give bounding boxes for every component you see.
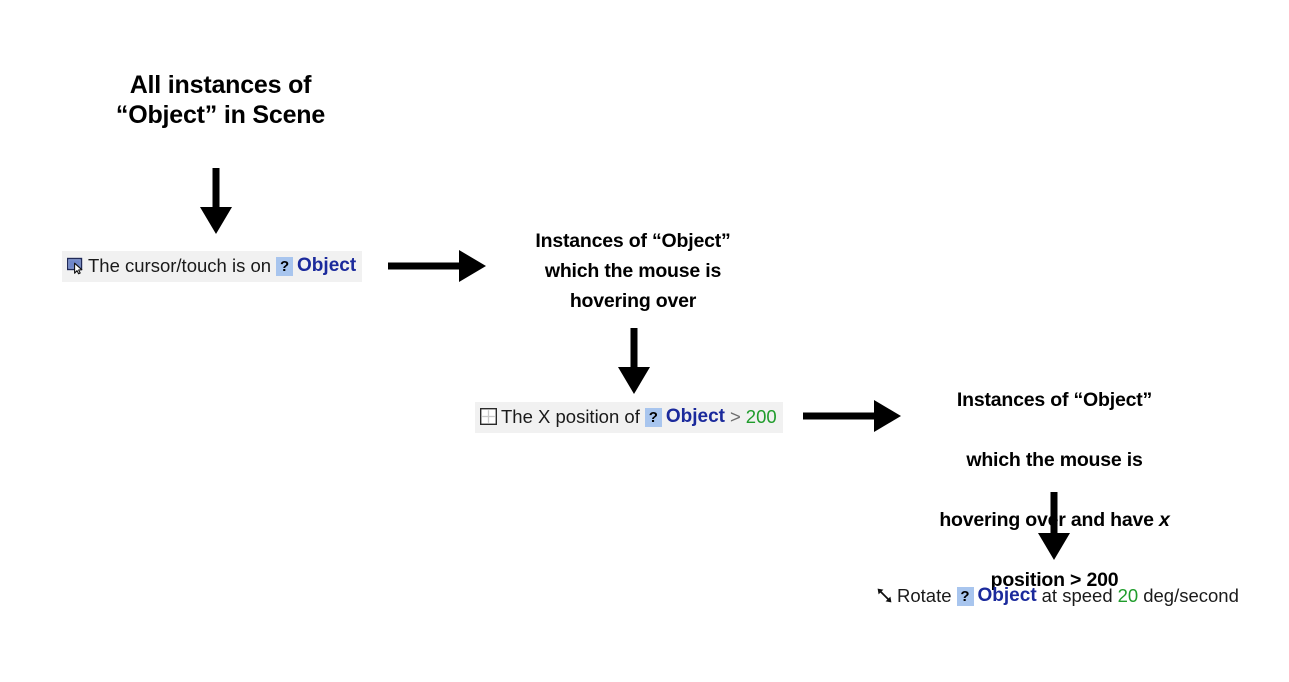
object-question-badge: ? <box>276 257 293 276</box>
arrow-head <box>618 367 650 394</box>
arrow-source-to-cursor-condition <box>200 168 232 234</box>
object-name-label: Object <box>978 585 1037 607</box>
speed-value[interactable]: 20 <box>1118 585 1139 607</box>
caption-italic-x: x <box>1159 509 1170 531</box>
object-parameter-chip[interactable]: ? Object <box>645 406 725 428</box>
arrow-x-condition-to-caption <box>803 402 901 430</box>
arrow-caption-to-rotate-action <box>1038 492 1070 560</box>
object-name-label: Object <box>666 406 725 428</box>
arrow-head <box>874 400 901 432</box>
arrow-shaft <box>388 263 460 270</box>
block-row-action-rotate[interactable]: Rotate ? Object at speed 20 deg/second <box>871 581 1245 612</box>
object-question-badge: ? <box>645 408 662 427</box>
row-text-after: at speed <box>1042 585 1113 607</box>
arrow-shaft <box>213 168 220 210</box>
row-text-before: The X position of <box>501 406 640 428</box>
rotate-diagonal-icon <box>876 587 894 605</box>
arrow-caption-to-x-condition <box>618 328 650 394</box>
object-question-badge: ? <box>957 587 974 606</box>
caption-source-instances: All instances of “Object” in Scene <box>48 70 393 130</box>
position-grid-icon <box>480 408 498 426</box>
block-row-condition-x-position[interactable]: The X position of ? Object > 200 <box>475 402 783 433</box>
arrow-shaft <box>631 328 638 370</box>
diagram-canvas: All instances of “Object” in Scene The c… <box>0 0 1289 682</box>
caption-line-2: which the mouse is <box>966 449 1142 471</box>
cursor-on-object-icon <box>67 257 85 275</box>
row-text-before: The cursor/touch is on <box>88 255 271 277</box>
object-name-label: Object <box>297 255 356 277</box>
caption-hovered-instances: Instances of “Object” which the mouse is… <box>505 226 761 316</box>
row-text-before: Rotate <box>897 585 952 607</box>
block-row-condition-cursor-on-object[interactable]: The cursor/touch is on ? Object <box>62 251 362 282</box>
arrow-shaft <box>1051 492 1058 536</box>
arrow-head <box>1038 533 1070 560</box>
speed-unit-label: deg/second <box>1143 585 1239 607</box>
object-parameter-chip[interactable]: ? Object <box>957 585 1037 607</box>
object-parameter-chip[interactable]: ? Object <box>276 255 356 277</box>
arrow-head <box>200 207 232 234</box>
arrow-cursor-condition-to-caption <box>388 252 486 280</box>
arrow-head <box>459 250 486 282</box>
comparison-operator[interactable]: > <box>730 406 741 428</box>
caption-line-1: Instances of “Object” <box>957 389 1152 411</box>
comparison-value[interactable]: 200 <box>746 406 777 428</box>
arrow-shaft <box>803 413 875 420</box>
